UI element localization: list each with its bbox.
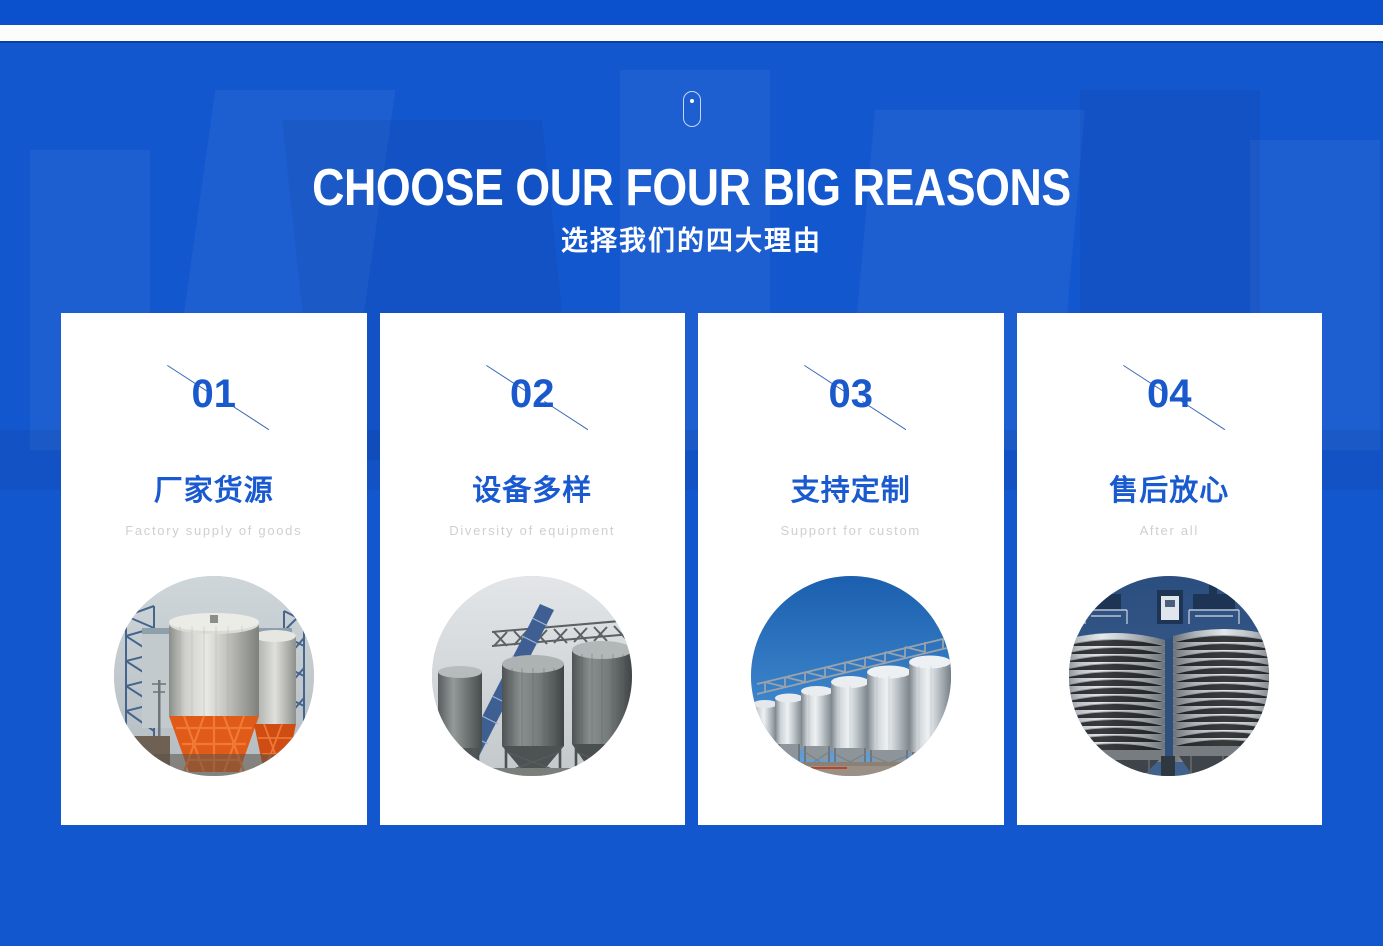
card-number: 03	[698, 371, 1004, 417]
twin-corrugated-silo-photo	[1069, 576, 1269, 776]
card-number: 04	[1017, 371, 1323, 417]
card-title-chinese: 厂家货源	[61, 471, 367, 511]
card-title-english: Factory supply of goods	[61, 521, 367, 540]
card-title-chinese: 设备多样	[380, 471, 686, 511]
mouse-scroll-dot	[690, 99, 694, 103]
card-title-english: After all	[1017, 521, 1323, 540]
card-number: 01	[61, 371, 367, 417]
card-number: 02	[380, 371, 686, 417]
reasons-card-list: 01 厂家货源 Factory supply of goods	[61, 313, 1322, 825]
page-title-chinese: 选择我们的四大理由	[0, 222, 1383, 260]
reason-card-02[interactable]: 02 设备多样 Diversity of equipment	[380, 313, 686, 825]
silo-row-blue-sky-photo	[751, 576, 951, 776]
card-title-english: Diversity of equipment	[380, 521, 686, 540]
reason-card-04[interactable]: 04 售后放心 After all	[1017, 313, 1323, 825]
grey-silo-cluster-photo	[432, 576, 632, 776]
page-content: CHOOSE OUR FOUR BIG REASONS 选择我们的四大理由 01…	[0, 0, 1383, 946]
reason-card-01[interactable]: 01 厂家货源 Factory supply of goods	[61, 313, 367, 825]
page-title-english: CHOOSE OUR FOUR BIG REASONS	[97, 158, 1286, 218]
steel-silo-orange-frame-photo	[114, 576, 314, 776]
card-number-row: 02	[380, 371, 686, 463]
card-title-chinese: 支持定制	[698, 471, 1004, 511]
card-title-english: Support for custom	[698, 521, 1004, 540]
mouse-scroll-icon[interactable]	[683, 91, 701, 127]
card-number-row: 03	[698, 371, 1004, 463]
card-number-row: 01	[61, 371, 367, 463]
card-number-row: 04	[1017, 371, 1323, 463]
reason-card-03[interactable]: 03 支持定制 Support for custom	[698, 313, 1004, 825]
card-title-chinese: 售后放心	[1017, 471, 1323, 511]
